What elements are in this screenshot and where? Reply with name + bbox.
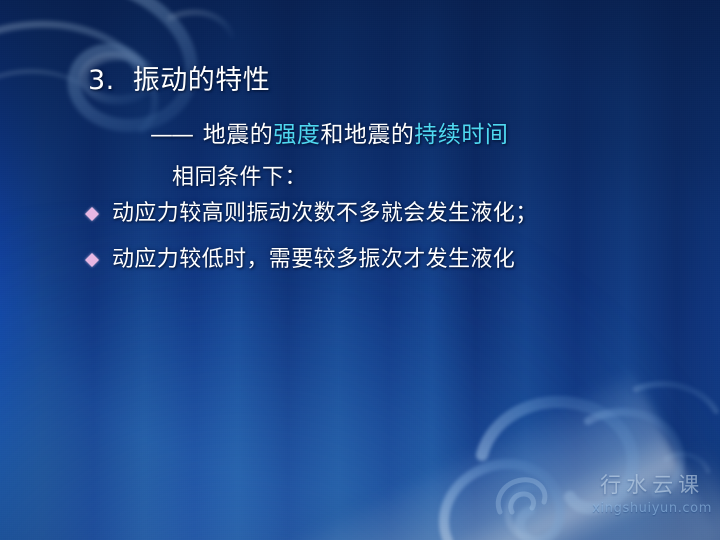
title-number: 3. xyxy=(88,65,115,96)
list-item-label: 动应力较低时，需要较多振次才发生液化 xyxy=(112,245,515,275)
list-item: 动应力较高则振动次数不多就会发生液化； xyxy=(86,199,538,229)
slide-subtitle: —— 地震的强度和地震的持续时间 xyxy=(150,120,508,150)
condition-label: 相同条件下： xyxy=(172,163,307,192)
subtitle-part-2: 和地震的 xyxy=(320,122,414,148)
subtitle-part-1: 地震的 xyxy=(195,122,273,148)
list-item: 动应力较低时，需要较多振次才发生液化 xyxy=(86,245,515,275)
subtitle-highlight-duration: 持续时间 xyxy=(414,122,508,148)
slide-title: 3.振动的特性 xyxy=(88,64,270,98)
slide-content: 3.振动的特性 —— 地震的强度和地震的持续时间 相同条件下： 动应力较高则振动… xyxy=(0,0,720,540)
watermark-wave-logo-icon xyxy=(490,462,552,524)
title-text: 振动的特性 xyxy=(133,65,271,96)
em-dash: —— xyxy=(150,122,192,148)
diamond-bullet-icon xyxy=(85,253,99,267)
presentation-slide: 3.振动的特性 —— 地震的强度和地震的持续时间 相同条件下： 动应力较高则振动… xyxy=(0,0,720,540)
subtitle-highlight-intensity: 强度 xyxy=(273,122,320,148)
list-item-label: 动应力较高则振动次数不多就会发生液化； xyxy=(112,199,538,229)
diamond-bullet-icon xyxy=(85,207,99,221)
